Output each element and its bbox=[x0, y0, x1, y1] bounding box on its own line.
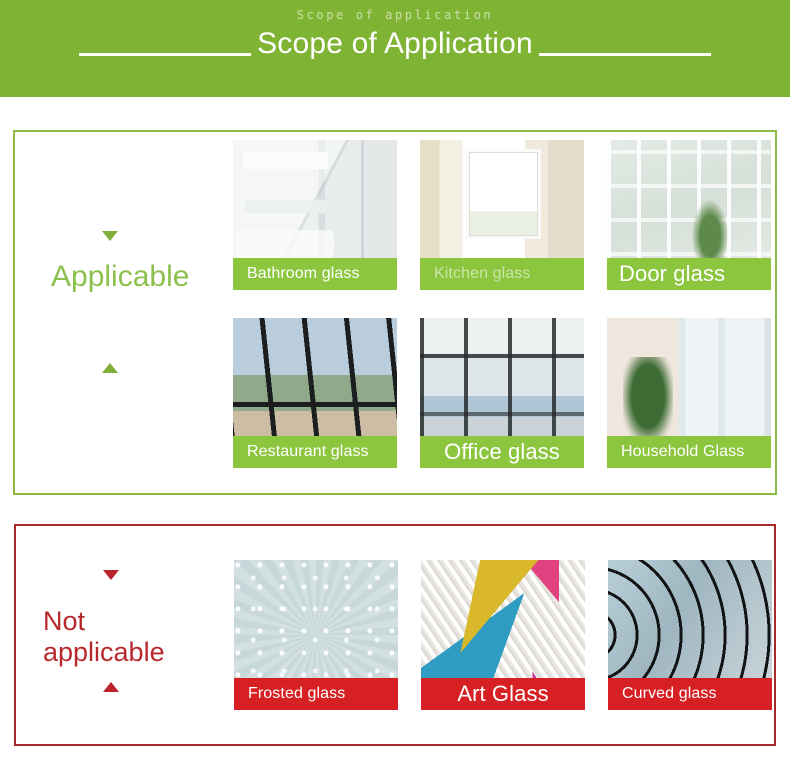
card-caption: Kitchen glass bbox=[420, 258, 584, 290]
section-not-applicable: Not applicable Frosted glass Art Glass C… bbox=[14, 524, 776, 746]
section-applicable: Applicable Bathroom glass Kitchen glass … bbox=[13, 130, 777, 495]
header-title-row: Scope of Application bbox=[0, 26, 790, 62]
triangle-up-icon bbox=[102, 363, 118, 373]
card-caption: Office glass bbox=[420, 436, 584, 468]
page-header-banner: Scope of application Scope of Applicatio… bbox=[0, 0, 790, 97]
card-caption: Frosted glass bbox=[234, 678, 398, 710]
not-applicable-label: Not applicable bbox=[43, 606, 213, 668]
card-caption: Restaurant glass bbox=[233, 436, 397, 468]
card-caption: Household Glass bbox=[607, 436, 771, 468]
triangle-up-icon bbox=[103, 682, 119, 692]
card-art-glass[interactable]: Art Glass bbox=[421, 560, 585, 710]
header-rule-left bbox=[79, 53, 251, 56]
card-household-glass[interactable]: Household Glass bbox=[607, 318, 771, 468]
page-title: Scope of Application bbox=[251, 26, 539, 62]
card-office-glass[interactable]: Office glass bbox=[420, 318, 584, 468]
card-frosted-glass[interactable]: Frosted glass bbox=[234, 560, 398, 710]
card-curved-glass[interactable]: Curved glass bbox=[608, 560, 772, 710]
header-eyebrow-text: Scope of application bbox=[0, 8, 790, 22]
card-bathroom-glass[interactable]: Bathroom glass bbox=[233, 140, 397, 290]
card-kitchen-glass[interactable]: Kitchen glass bbox=[420, 140, 584, 290]
not-applicable-label-column: Not applicable bbox=[16, 526, 221, 744]
applicable-label: Applicable bbox=[51, 260, 189, 295]
card-caption: Art Glass bbox=[421, 678, 585, 710]
card-caption: Curved glass bbox=[608, 678, 772, 710]
triangle-down-icon bbox=[103, 570, 119, 580]
card-caption: Door glass bbox=[607, 258, 771, 290]
card-door-glass[interactable]: Door glass bbox=[607, 140, 771, 290]
card-caption: Bathroom glass bbox=[233, 258, 397, 290]
header-rule-right bbox=[539, 53, 711, 56]
triangle-down-icon bbox=[102, 231, 118, 241]
applicable-label-column: Applicable bbox=[15, 132, 220, 493]
card-restaurant-glass[interactable]: Restaurant glass bbox=[233, 318, 397, 468]
